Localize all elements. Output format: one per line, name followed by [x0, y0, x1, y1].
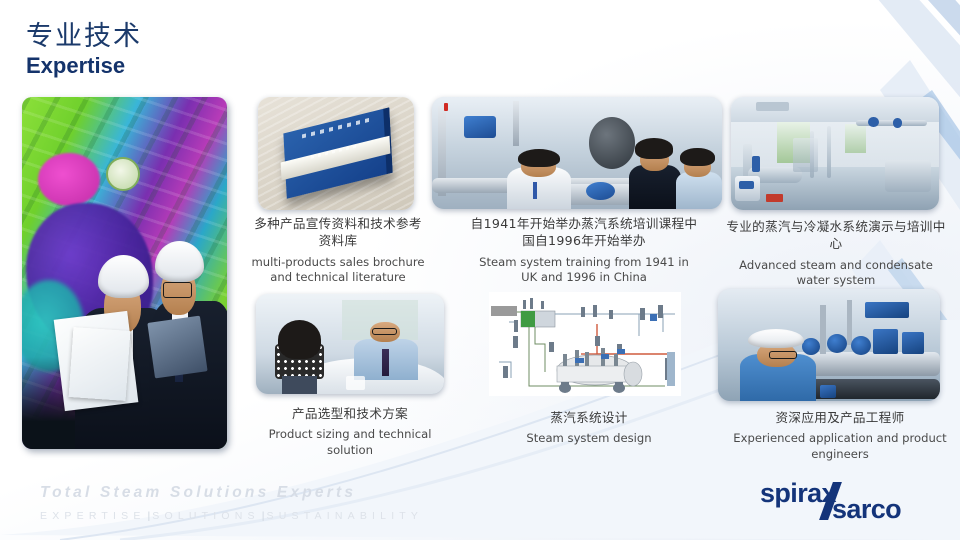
steam-training-class-photo — [432, 97, 722, 209]
training-centre-room-photo — [731, 97, 939, 210]
footer-pillars: EXPERTISE|SOLUTIONS|SUSTAINABILITY — [40, 510, 423, 522]
slide-footer: Total Steam Solutions Experts EXPERTISE|… — [40, 484, 423, 522]
caption-brochure: 多种产品宣传资料和技术参考资料库 multi-products sales br… — [248, 215, 428, 286]
caption-brochure-chinese: 多种产品宣传资料和技术参考资料库 — [248, 215, 428, 250]
page-title: 专业技术 Expertise — [26, 22, 142, 80]
caption-centre-chinese: 专业的蒸汽与冷凝水系统演示与培训中心 — [726, 218, 946, 253]
footer-pillar-sustainability: SUSTAINABILITY — [267, 510, 424, 522]
caption-brochure-english: multi-products sales brochure and techni… — [248, 255, 428, 286]
caption-sizing: 产品选型和技术方案 Product sizing and technical s… — [252, 405, 448, 459]
page-title-chinese: 专业技术 — [26, 22, 142, 52]
page-title-english: Expertise — [26, 53, 142, 79]
caption-sizing-chinese: 产品选型和技术方案 — [252, 405, 448, 422]
caption-training: 自1941年开始举办蒸汽系统培训课程中国自1996年开始举办 Steam sys… — [470, 215, 698, 286]
caption-sizing-english: Product sizing and technical solution — [252, 427, 448, 458]
footer-tagline: Total Steam Solutions Experts — [40, 484, 423, 501]
product-brochure-photo — [258, 97, 414, 210]
footer-separator-2: | — [260, 510, 267, 522]
logo-word-sarco: sarco — [832, 494, 901, 525]
steam-system-schematic-diagram — [489, 292, 681, 396]
footer-pillar-solutions: SOLUTIONS — [152, 510, 259, 522]
caption-field-chinese: 资深应用及产品工程师 — [732, 409, 948, 426]
caption-field: 资深应用及产品工程师 Experienced application and p… — [732, 409, 948, 463]
caption-design-english: Steam system design — [494, 431, 684, 447]
caption-centre-english: Advanced steam and condensate water syst… — [726, 258, 946, 289]
customer-meeting-photo — [256, 294, 444, 394]
caption-field-english: Experienced application and product engi… — [732, 431, 948, 462]
caption-design-chinese: 蒸汽系统设计 — [494, 409, 684, 426]
caption-training-chinese: 自1941年开始举办蒸汽系统培训课程中国自1996年开始举办 — [470, 215, 698, 250]
caption-training-english: Steam system training from 1941 in UK an… — [470, 255, 698, 286]
field-engineer-valves-photo — [718, 289, 940, 401]
engineers-reviewing-blueprint-photo — [22, 97, 227, 449]
footer-pillar-expertise: EXPERTISE — [40, 510, 146, 522]
slide-canvas: 专业技术 Expertise — [0, 0, 960, 540]
spirax-sarco-logo: spirax sarco — [754, 480, 942, 526]
caption-design: 蒸汽系统设计 Steam system design — [494, 409, 684, 447]
caption-centre: 专业的蒸汽与冷凝水系统演示与培训中心 Advanced steam and co… — [726, 218, 946, 289]
schematic-svg — [489, 292, 681, 396]
